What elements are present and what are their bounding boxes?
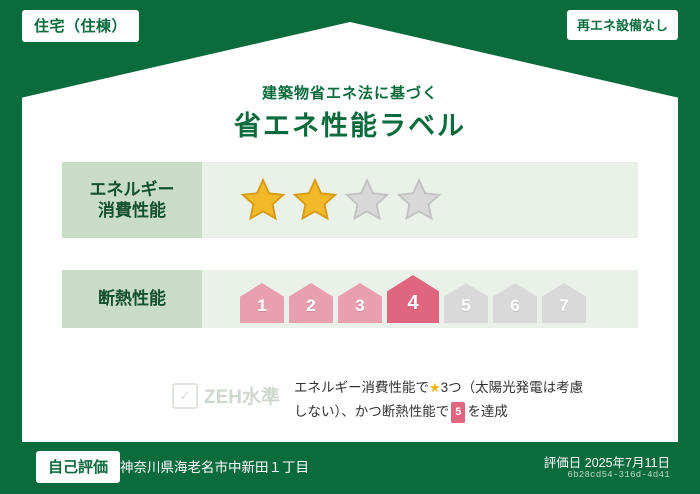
zeh-description: エネルギー消費性能で★3つ（太陽光発電は考慮しない）、かつ断熱性能で5を達成 [294,376,594,424]
insulation-grade-1: 1 [240,283,284,323]
zeh-description-part4: を達成 [467,404,508,419]
energy-performance-row: エネルギー 消費性能 [62,162,638,238]
star-rating [240,177,442,223]
label-title: 省エネ性能ラベル [22,104,678,143]
energy-performance-row-body [202,162,638,238]
star-icon-filled-1 [240,177,286,223]
label-subtitle: 建築物省エネ法に基づく [22,82,678,103]
renewable-equipment-tag: 再エネ設備なし [567,10,678,40]
building-type-tag: 住宅（住棟） [22,10,139,42]
footer-bar: 自己評価 神奈川県海老名市中新田１丁目 評価日 2025年7月11日 6b28c… [0,442,700,494]
evaluation-date: 評価日 2025年7月11日 [544,452,670,471]
energy-performance-label-line2: 消費性能 [98,200,166,221]
energy-performance-label-card: 住宅（住棟） 再エネ設備なし 建築物省エネ法に基づく 省エネ性能ラベル エネルギ… [0,0,700,494]
insulation-grade-3: 3 [338,283,382,323]
star-icon-empty-4 [396,177,442,223]
insulation-grade-6: 6 [493,283,537,323]
insulation-grade-2: 2 [289,283,333,323]
self-evaluation-badge: 自己評価 [36,451,120,483]
insulation-grade-5: 5 [444,283,488,323]
insulation-performance-row: 断熱性能 1 2 3 [62,270,638,328]
inline-star-icon: ★ [429,380,441,395]
insulation-performance-label: 断熱性能 [98,288,166,309]
insulation-performance-row-label: 断熱性能 [62,270,202,328]
label-panel-inner: 建築物省エネ法に基づく 省エネ性能ラベル エネルギー 消費性能 [22,22,678,442]
star-icon-empty-3 [344,177,390,223]
label-panel: 建築物省エネ法に基づく 省エネ性能ラベル エネルギー 消費性能 [22,22,678,442]
insulation-grade-7-number: 7 [559,296,568,323]
energy-performance-row-label: エネルギー 消費性能 [62,162,202,238]
inline-grade-badge: 5 [451,402,465,423]
zeh-description-part2: 3つ（太陽光発電 [441,380,543,395]
zeh-description-part1: エネルギー消費性能で [294,380,429,395]
insulation-grade-5-number: 5 [461,296,470,323]
check-icon: ✓ [172,383,198,409]
zeh-badge: ✓ ZEH水準 [172,382,280,409]
insulation-grade-scale: 1 2 3 4 [240,275,586,323]
star-icon-filled-2 [292,177,338,223]
evaluation-id: 6b28cd54-316d-4d41 [567,470,670,480]
zeh-badge-label: ZEH水準 [204,382,280,409]
zeh-section: ✓ ZEH水準 エネルギー消費性能で★3つ（太陽光発電は考慮しない）、かつ断熱性… [172,360,594,424]
energy-performance-label-line1: エネルギー [90,179,175,200]
insulation-grade-4-current: 4 [387,275,439,323]
insulation-grade-7: 7 [542,283,586,323]
insulation-grade-6-number: 6 [510,296,519,323]
property-address: 神奈川県海老名市中新田１丁目 [120,456,309,476]
insulation-performance-row-body: 1 2 3 4 [202,270,638,328]
insulation-grade-3-number: 3 [355,296,364,323]
insulation-grade-2-number: 2 [306,296,315,323]
insulation-grade-1-number: 1 [257,296,266,323]
insulation-grade-4-number: 4 [407,292,418,323]
